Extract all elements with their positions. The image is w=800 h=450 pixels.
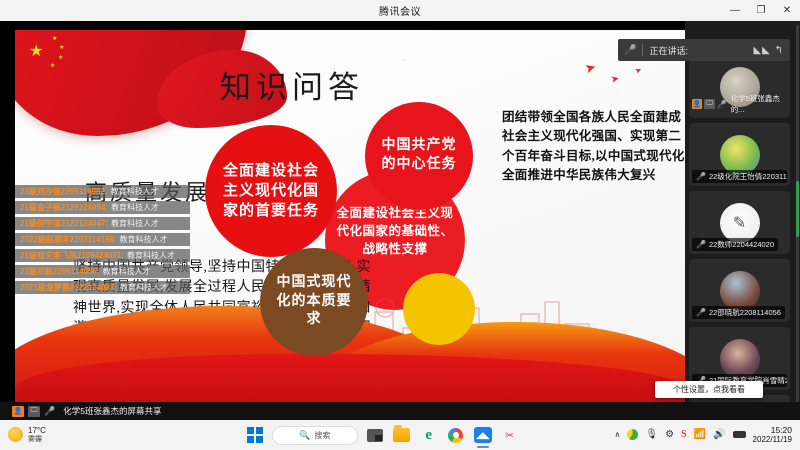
chat-text: 教育科技人才 bbox=[111, 218, 159, 229]
participant-name-bar: 🎤 22邵晓航2208114056 bbox=[692, 306, 785, 319]
participant-name: 22邵晓航2208114056 bbox=[709, 307, 781, 318]
flag-star-3: ★ bbox=[58, 55, 63, 61]
avatar bbox=[720, 135, 760, 175]
chrome-button[interactable] bbox=[446, 425, 466, 445]
clock-date: 2022/11/19 bbox=[753, 435, 792, 444]
task-view-button[interactable] bbox=[365, 425, 385, 445]
system-tray: ∧ 🎙 ⚙ S 📶 🔊 15:20 2022/11/19 bbox=[615, 426, 800, 445]
volume-icon[interactable]: 🔊 bbox=[713, 429, 725, 440]
chat-sender: 21级金子枫2129224084: bbox=[20, 202, 108, 213]
active-speaker-bar: 🎤 正在讲话: ◣◣ ↰ bbox=[618, 39, 790, 61]
mic-muted-icon: 🎤 bbox=[624, 45, 636, 56]
scissors-icon: ✂ bbox=[502, 428, 517, 443]
rail-scrollbar-thumb[interactable] bbox=[796, 181, 799, 237]
screen-share-icon: 🖵 bbox=[28, 406, 40, 417]
chat-text: 教育科技人才 bbox=[111, 202, 159, 213]
wifi-icon[interactable]: 📶 bbox=[694, 429, 706, 440]
taskbar-center-items: 🔍 搜索 e ◢◣ ✂ bbox=[150, 425, 615, 445]
clock[interactable]: 15:20 2022/11/19 bbox=[753, 426, 792, 445]
slide-title: 知识问答 bbox=[220, 62, 364, 107]
share-status-text: 化学5班张鑫杰的屏幕共享 bbox=[63, 405, 161, 417]
dove-icon-2: ➤ bbox=[610, 73, 620, 85]
participant-name-bar: 🎤 22级化院王怡倩2203114... bbox=[692, 170, 787, 183]
active-speaker-label: 正在讲话: bbox=[649, 44, 688, 57]
china-flag-decoration: ★ ★ ★ ★ ★ bbox=[15, 30, 247, 136]
participant-tile[interactable]: 🎤 22邵晓航2208114056 bbox=[689, 259, 790, 322]
chat-text: 教育科技人才 bbox=[120, 282, 168, 293]
maximize-button[interactable]: ❐ bbox=[748, 0, 774, 21]
minimize-button[interactable]: — bbox=[722, 0, 748, 21]
participant-name: 22数师2204424020 bbox=[709, 239, 774, 250]
windows-taskbar: 17°C 雾霾 🔍 搜索 e ◢◣ ✂ ∧ � bbox=[0, 420, 800, 450]
avatar bbox=[720, 271, 760, 311]
weather-description: 雾霾 bbox=[28, 436, 46, 444]
tile-badges: 👤 🖵 🎤 化学5班张鑫杰的... bbox=[692, 93, 790, 115]
chat-sender: 22级邓毅2206114056: bbox=[20, 266, 100, 277]
window-title: 腾讯会议 bbox=[379, 3, 421, 18]
avatar bbox=[720, 339, 760, 379]
chat-sender: 21级何宇洁2122124047: bbox=[20, 218, 108, 229]
host-badge-icon: 👤 bbox=[692, 99, 702, 109]
mic-muted-icon: 🎤 bbox=[696, 308, 706, 317]
participant-name-bar: 🎤 22数师2204424020 bbox=[692, 238, 778, 251]
avatar: ✎ bbox=[720, 203, 760, 243]
mic-muted-icon: 🎤 bbox=[717, 100, 727, 109]
search-input[interactable]: 🔍 搜索 bbox=[272, 426, 358, 445]
rail-collapse-icon[interactable]: ◣◣ ↰ bbox=[753, 45, 784, 56]
slide-circle-primary-task: 全面建设社会主义现代化国家的首要任务 bbox=[205, 125, 337, 257]
chat-message: 21级金子枫2129224084: 教育科技人才 bbox=[15, 201, 190, 214]
mic-muted-icon: 🎤 bbox=[696, 240, 706, 249]
tencent-meeting-button[interactable]: ◢◣ bbox=[473, 425, 493, 445]
participant-name: 22级化院王怡倩2203114... bbox=[709, 171, 787, 182]
clock-time: 15:20 bbox=[753, 426, 792, 436]
chat-text: 教育科技人才 bbox=[127, 250, 175, 261]
close-button[interactable]: ✕ bbox=[774, 0, 800, 21]
chat-message: 22级刘沙佳2205114082: 教育科技人才 bbox=[15, 185, 190, 198]
chevron-up-icon[interactable]: ∧ bbox=[615, 430, 621, 439]
slide-circle-central-task: 中国共产党的中心任务 bbox=[365, 102, 473, 210]
slide-circle-essential-requirement: 中国式现代化的本质要求 bbox=[260, 248, 368, 356]
settings-tooltip: 个性设置，点我看看 bbox=[655, 381, 763, 398]
slide-circle-yellow bbox=[403, 273, 475, 345]
snipping-tool-button[interactable]: ✂ bbox=[500, 425, 520, 445]
host-badge-icon: 👤 bbox=[12, 406, 24, 417]
chat-message: 2022级赵润丰2203114168: 教育科技人才 bbox=[15, 233, 190, 246]
participant-rail: 🎤 正在讲话: ◣◣ ↰ 👤 🖵 🎤 化学5班张鑫杰的... 🎤 22级化院王怡… bbox=[685, 21, 800, 420]
edge-button[interactable]: e bbox=[419, 425, 439, 445]
participant-tile[interactable]: 👤 🖵 🎤 化学5班张鑫杰的... bbox=[689, 55, 790, 118]
sogou-ime-icon[interactable]: S bbox=[681, 429, 687, 440]
weather-widget[interactable]: 17°C 雾霾 bbox=[0, 426, 150, 443]
chat-text: 教育科技人才 bbox=[103, 266, 151, 277]
chat-text: 教育科技人才 bbox=[120, 234, 168, 245]
chat-message: 21级戏文李飞凤2109424081: 教育科技人才 bbox=[15, 249, 190, 262]
participant-tile[interactable]: ✎ 🎤 22数师2204424020 bbox=[689, 191, 790, 254]
chat-sender: 2022级赵润丰2203114168: bbox=[20, 234, 117, 245]
green-shield-icon[interactable] bbox=[627, 429, 638, 440]
flag-star-4: ★ bbox=[50, 63, 55, 69]
chat-overlay: 22级刘沙佳2205114082: 教育科技人才 21级金子枫212922408… bbox=[15, 185, 190, 297]
chat-message: 21级何宇洁2122124047: 教育科技人才 bbox=[15, 217, 190, 230]
screen-share-icon: 🖵 bbox=[704, 99, 714, 109]
file-explorer-button[interactable] bbox=[392, 425, 412, 445]
settings-icon[interactable]: ⚙ bbox=[665, 429, 674, 440]
microphone-icon[interactable]: 🎙 bbox=[645, 429, 658, 440]
chat-message: 2021级龙梦蓉2122124083: 教育科技人才 bbox=[15, 281, 190, 294]
shared-screen-region[interactable]: ★ ★ ★ ★ ★ 知识问答 高质量发展 ➤ ➤ ➤ 团结带领全国各族人民全面建… bbox=[15, 30, 685, 402]
chat-sender: 22级刘沙佳2205114082: bbox=[20, 186, 108, 197]
flag-star-1: ★ bbox=[52, 36, 57, 42]
screen-share-status-bar: 👤 🖵 🎤 化学5班张鑫杰的屏幕共享 bbox=[0, 402, 800, 420]
chat-message: 22级邓毅2206114056: 教育科技人才 bbox=[15, 265, 190, 278]
windows-logo-icon bbox=[247, 427, 263, 443]
divider bbox=[642, 44, 643, 56]
chrome-icon bbox=[448, 428, 463, 443]
mic-muted-icon: 🎤 bbox=[696, 172, 706, 181]
window-title-bar: 腾讯会议 — ❐ ✕ bbox=[0, 0, 800, 21]
slide-paragraph-right: 团结带领全国各族人民全面建成社会主义现代化强国、实现第二个百年奋斗目标,以中国式… bbox=[502, 108, 685, 186]
start-button[interactable] bbox=[245, 425, 265, 445]
chat-sender: 21级戏文李飞凤2109424081: bbox=[20, 250, 124, 261]
window-controls: — ❐ ✕ bbox=[722, 0, 800, 21]
weather-temperature: 17°C bbox=[28, 426, 46, 435]
search-icon: 🔍 bbox=[299, 430, 310, 441]
task-view-icon bbox=[367, 429, 383, 442]
chat-text: 教育科技人才 bbox=[111, 186, 159, 197]
meeting-icon: ◢◣ bbox=[474, 427, 492, 443]
search-placeholder: 搜索 bbox=[314, 430, 330, 441]
flag-star-2: ★ bbox=[59, 45, 64, 51]
sun-icon bbox=[8, 427, 23, 442]
participant-name: 化学5班张鑫杰的... bbox=[731, 93, 790, 115]
edge-icon: e bbox=[425, 427, 432, 444]
chat-sender: 2021级龙梦蓉2122124083: bbox=[20, 282, 117, 293]
participant-tile[interactable]: 🎤 22级化院王怡倩2203114... bbox=[689, 123, 790, 186]
mic-muted-icon: 🎤 bbox=[44, 406, 55, 417]
flag-star-large: ★ bbox=[29, 44, 43, 60]
battery-icon[interactable] bbox=[733, 431, 746, 438]
meeting-app-body: ★ ★ ★ ★ ★ 知识问答 高质量发展 ➤ ➤ ➤ 团结带领全国各族人民全面建… bbox=[0, 21, 800, 420]
folder-icon bbox=[393, 428, 410, 442]
